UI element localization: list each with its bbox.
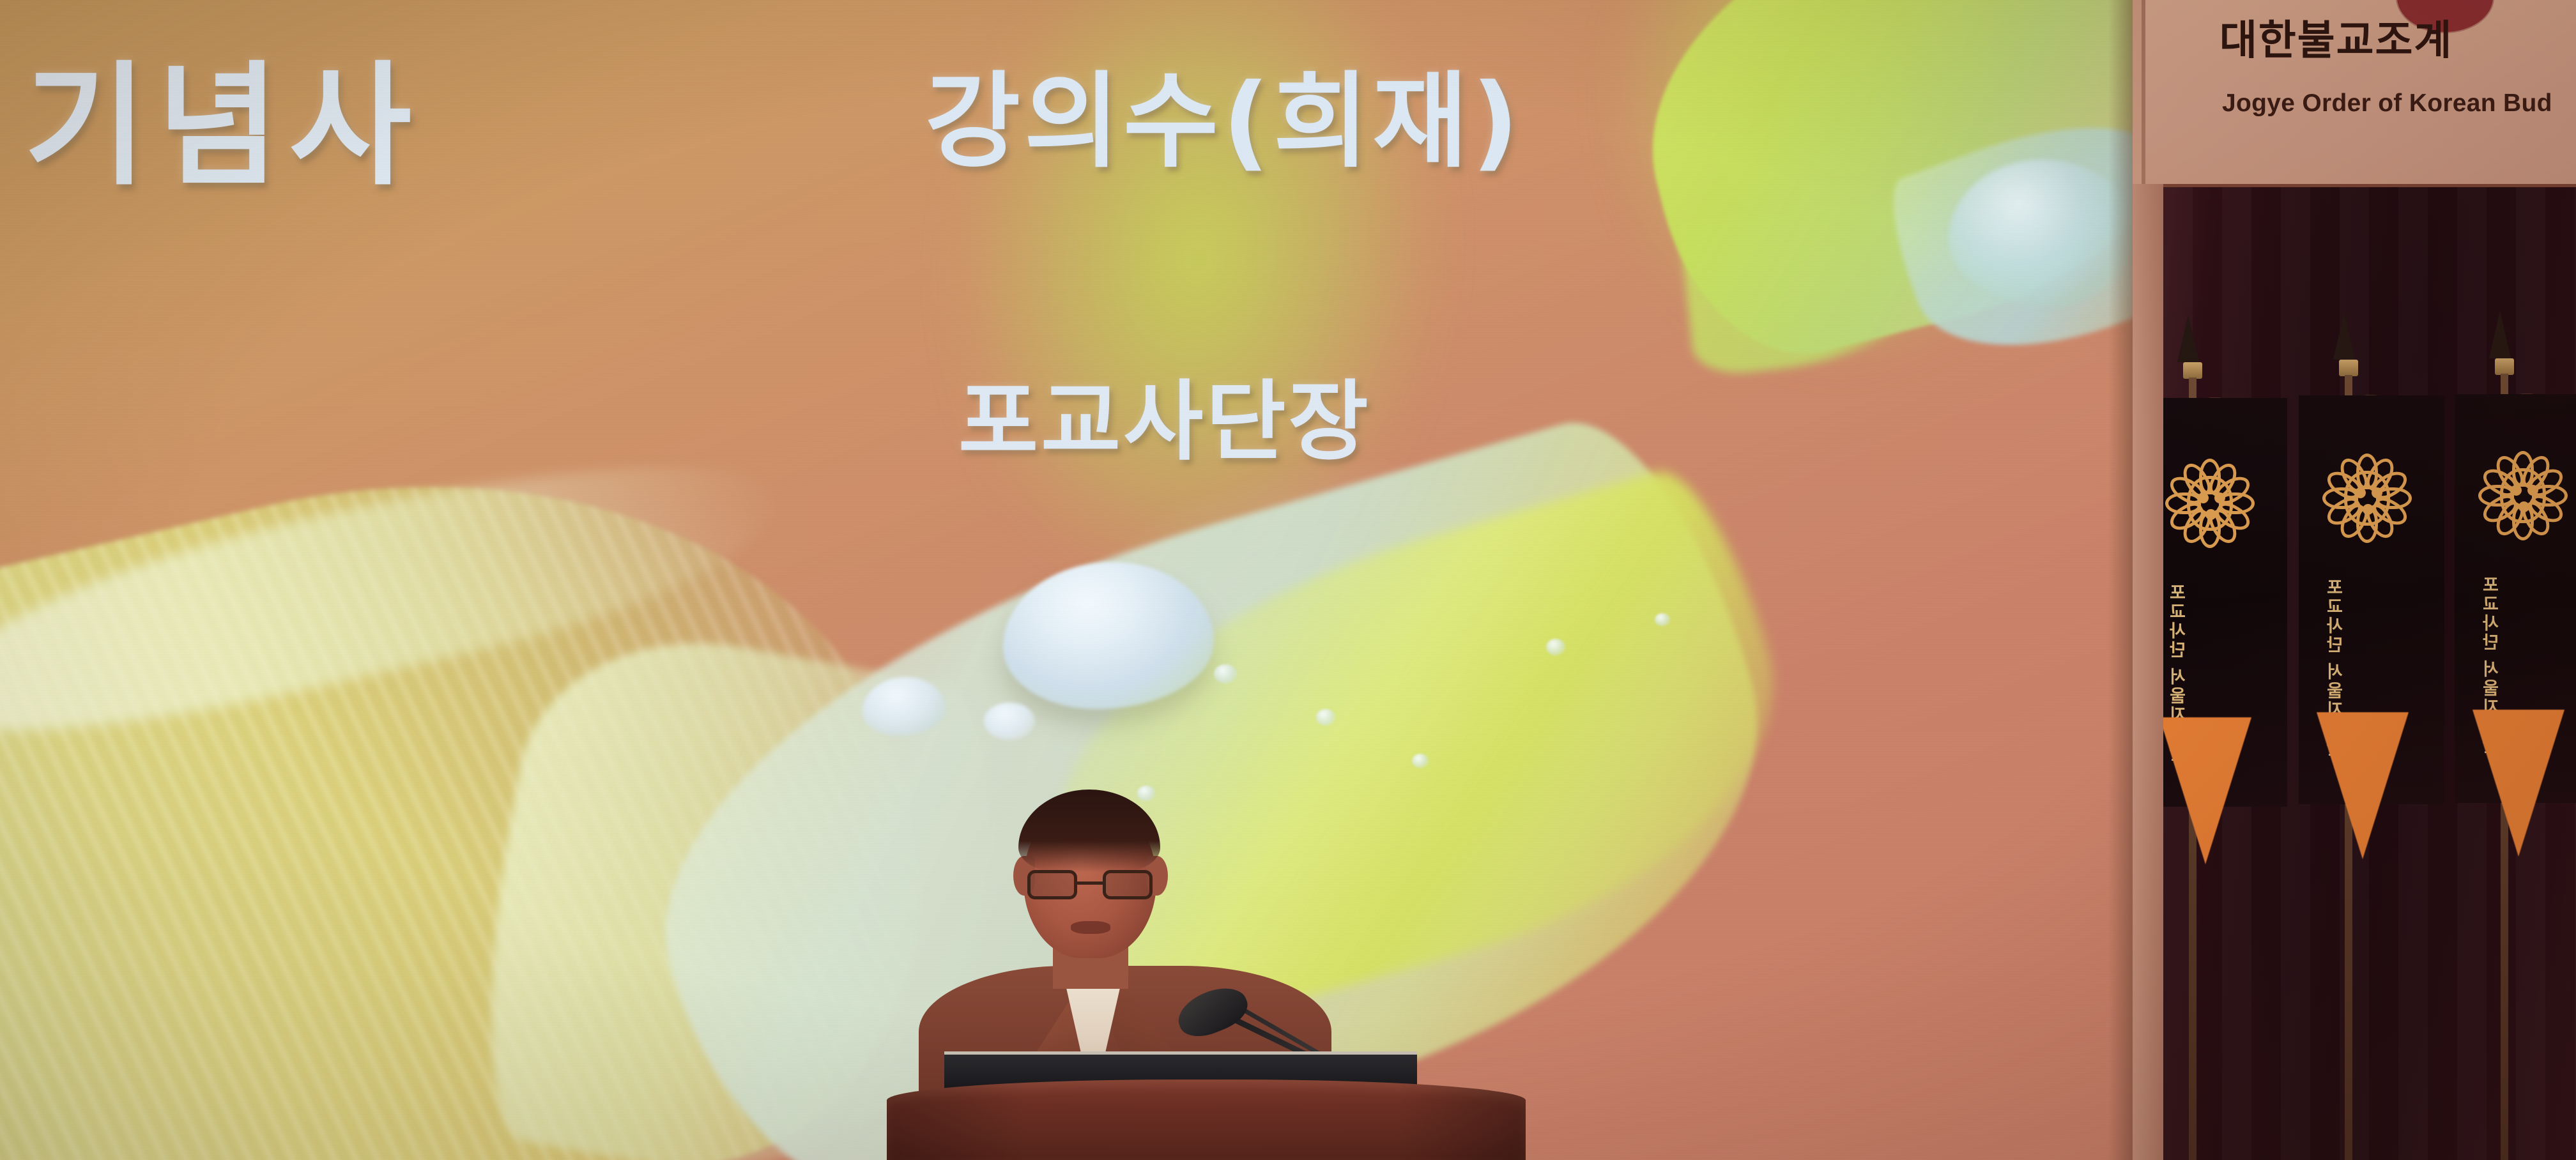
slide-speaker-role: 포교사단장: [958, 351, 1371, 477]
podium-shading: [887, 1080, 1526, 1160]
slide-speaker-name: 강의수(희재): [925, 37, 1522, 187]
ceremony-photograph: 기념사 강의수(희재) 포교사단장 대한불교조계 Jogye Order of …: [0, 0, 2576, 1160]
stage-backdrop: 포교사단 서울지역단: [2163, 184, 2576, 1160]
speaker-mouth: [1071, 921, 1110, 934]
flag-collar: [2495, 358, 2514, 375]
lotus-emblem-icon: [2475, 448, 2571, 544]
flag-finial-icon: [2177, 315, 2199, 362]
flag-tail: [2472, 710, 2564, 857]
projection-screen-edge: [2108, 0, 2133, 1160]
lotus-emblem-icon: [2163, 455, 2258, 551]
ceremonial-flag: 포교사단 서울지역단: [2163, 398, 2287, 807]
slide-title: 기념사: [24, 18, 422, 210]
lotus-emblem-icon: [2319, 450, 2415, 546]
speaker-hair: [1018, 790, 1160, 873]
flag-tail: [2317, 712, 2409, 859]
organization-sign-english-text: Jogye Order of Korean Bud: [2222, 89, 2552, 118]
flag-tail: [2163, 717, 2251, 864]
ceremonial-flag: 포교사단 서울지역단: [2299, 395, 2444, 804]
eyeglasses-icon: [1027, 870, 1153, 899]
ceremonial-flag: 포교사단 서울지역단: [2455, 394, 2576, 803]
organization-sign-korean-text: 대한불교조계: [2219, 8, 2453, 66]
flag-collar: [2339, 360, 2358, 376]
flag-finial-icon: [2333, 312, 2355, 360]
flag-collar: [2183, 362, 2202, 379]
wall-side-strip: [2133, 184, 2165, 1160]
flag-finial-icon: [2489, 311, 2511, 358]
